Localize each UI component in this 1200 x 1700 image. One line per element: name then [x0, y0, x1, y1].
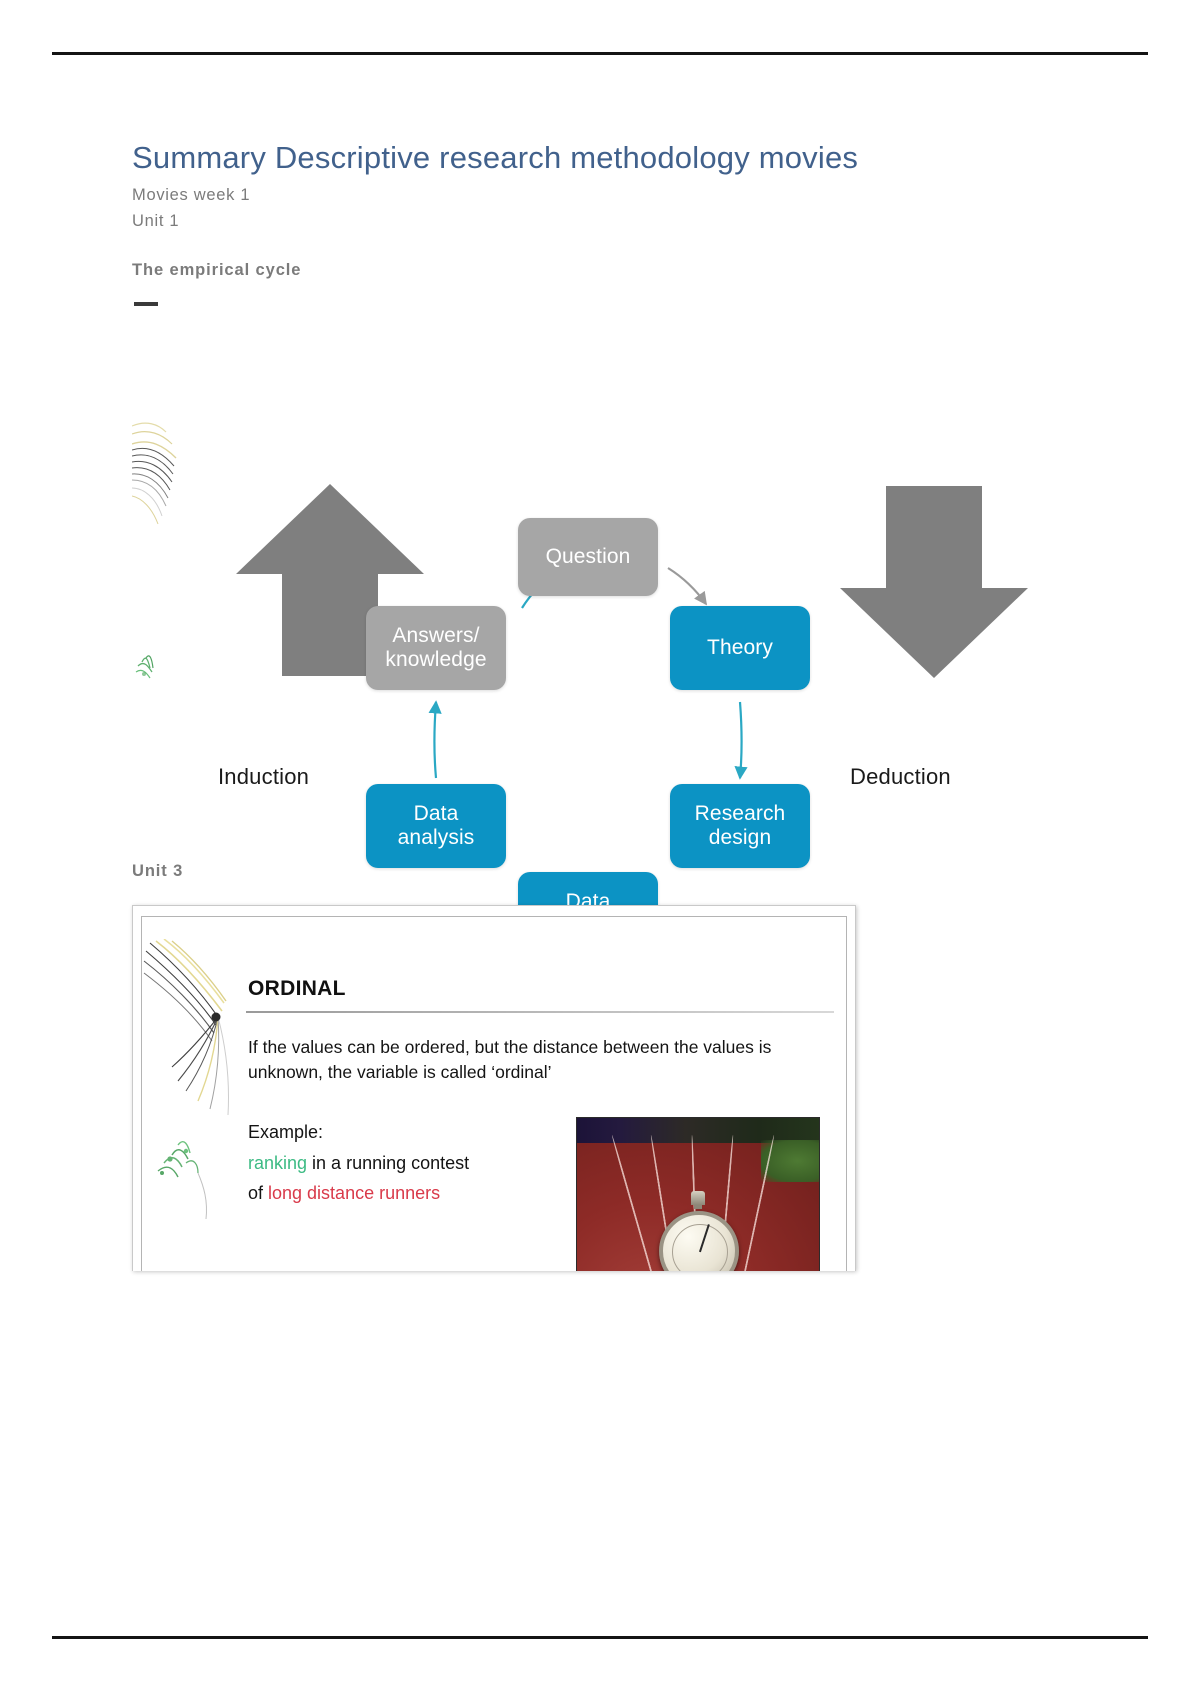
cycle-node-question-label: Question — [546, 545, 631, 569]
ordinal-example-line-2-prefix: of — [248, 1183, 268, 1203]
cycle-node-question: Question — [518, 518, 658, 596]
subtitle-movies-week: Movies week 1 — [132, 182, 1072, 209]
ordinal-slide-frame: ORDINAL If the values can be ordered, bu… — [132, 905, 856, 1271]
cycle-node-theory-label: Theory — [707, 636, 773, 660]
cycle-node-research-design-label-1: Research — [695, 802, 786, 825]
ordinal-example-line-1: ranking in a running contest — [248, 1153, 469, 1174]
cycle-node-answers-label-1: Answers/ — [392, 624, 479, 647]
document-body: Summary Descriptive research methodology… — [132, 140, 1072, 1271]
cycle-node-data-analysis-label-1: Data — [414, 802, 459, 825]
induction-label: Induction — [218, 764, 309, 790]
decorative-scribble-bottom — [136, 656, 153, 678]
empirical-cycle-figure: Question Theory Research design Data col… — [132, 316, 1072, 836]
cycle-node-answers-label-2: knowledge — [385, 648, 486, 671]
paragraph-dash-marker — [134, 302, 158, 306]
arrow-data-analysis-to-answers — [435, 702, 437, 778]
ordinal-heading: ORDINAL — [248, 977, 346, 1001]
stopwatch-icon — [659, 1191, 737, 1271]
cycle-node-data-analysis-label-2: analysis — [398, 826, 475, 849]
slide-decorative-scribble — [142, 939, 262, 1269]
deduction-block-arrow — [840, 486, 1028, 678]
cycle-node-answers-knowledge: Answers/ knowledge — [366, 606, 506, 690]
ordinal-example-line-2: of long distance runners — [248, 1183, 440, 1204]
decorative-scribble-top — [132, 423, 176, 524]
stopwatch-crown — [691, 1191, 705, 1205]
ordinal-heading-rule — [246, 1011, 834, 1013]
cycle-node-research-design-label-2: design — [709, 826, 771, 849]
arrow-theory-to-research-design — [740, 702, 742, 778]
subtitle-unit: Unit 1 — [132, 208, 1072, 235]
track-photo-infield — [761, 1140, 820, 1183]
stopwatch-dial — [659, 1211, 739, 1271]
ordinal-definition-paragraph: If the values can be ordered, but the di… — [248, 1035, 810, 1085]
page-bottom-rule — [52, 1636, 1148, 1639]
ordinal-example-line-1-rest: in a running contest — [307, 1153, 469, 1173]
cycle-node-research-design: Research design — [670, 784, 810, 868]
cycle-node-theory: Theory — [670, 606, 810, 690]
deduction-label: Deduction — [850, 764, 951, 790]
ordinal-example-runners-highlight: long distance runners — [268, 1183, 440, 1203]
ordinal-example-ranking-highlight: ranking — [248, 1153, 307, 1173]
page-title: Summary Descriptive research methodology… — [132, 140, 1072, 176]
ordinal-example-label: Example: — [248, 1122, 323, 1143]
running-track-photo — [576, 1117, 820, 1271]
cycle-node-data-analysis: Data analysis — [366, 784, 506, 868]
section-heading-empirical-cycle: The empirical cycle — [132, 261, 1072, 280]
arrow-question-to-theory — [668, 568, 706, 604]
ordinal-slide-inner: ORDINAL If the values can be ordered, bu… — [141, 916, 847, 1271]
page-top-rule — [52, 52, 1148, 55]
